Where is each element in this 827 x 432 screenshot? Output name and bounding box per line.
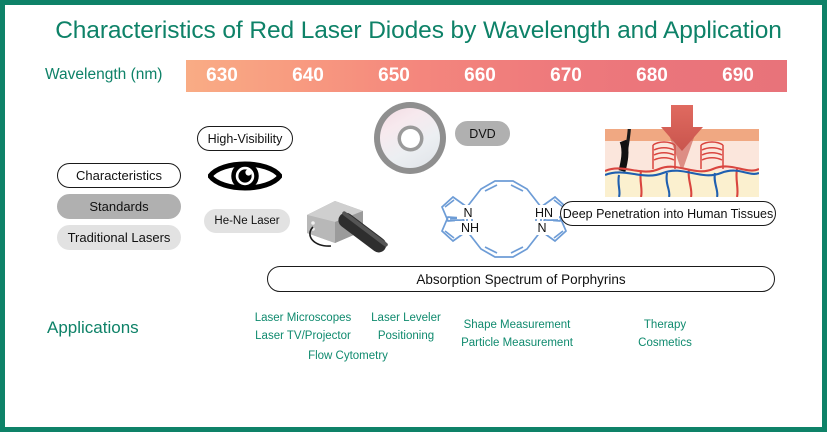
callout-high-visibility: High-Visibility (197, 126, 293, 151)
page-title: Characteristics of Red Laser Diodes by W… (5, 17, 827, 45)
wavelength-tick-670: 670 (536, 60, 596, 92)
wavelength-tick-640: 640 (278, 60, 338, 92)
dvd-disc-hub (401, 129, 420, 148)
application-particle-measurement: Particle Measurement (455, 337, 579, 349)
application-therapy: Therapy (617, 319, 713, 331)
legend-item-traditional-lasers: Traditional Lasers (57, 225, 181, 250)
wavelength-tick-680: 680 (622, 60, 682, 92)
applications-heading: Applications (47, 318, 139, 338)
atom-label-n-bottom-right: N (537, 221, 546, 235)
wavelength-gradient-bar: 630 640 650 660 670 680 690 (186, 60, 787, 92)
application-positioning: Positioning (360, 330, 452, 342)
callout-absorption-spectrum: Absorption Spectrum of Porphyrins (267, 266, 775, 292)
callout-deep-penetration: Deep Penetration into Human Tissues (560, 201, 776, 226)
atom-label-nh: NH (461, 221, 479, 235)
dvd-disc-icon (374, 102, 446, 174)
legend-item-characteristics: Characteristics (57, 163, 181, 188)
application-flow-cytometry: Flow Cytometry (293, 350, 403, 362)
application-cosmetics: Cosmetics (617, 337, 713, 349)
callout-dvd: DVD (455, 121, 510, 146)
atom-label-hn: HN (535, 206, 553, 220)
application-laser-tv-projector: Laser TV/Projector (248, 330, 358, 342)
application-laser-microscopes: Laser Microscopes (248, 312, 358, 324)
atom-label-n-top-left: N (463, 206, 472, 220)
wavelength-axis-label: Wavelength (nm) (45, 66, 162, 84)
eye-icon (208, 157, 282, 195)
wavelength-tick-630: 630 (192, 60, 252, 92)
application-shape-measurement: Shape Measurement (455, 319, 579, 331)
wavelength-tick-650: 650 (364, 60, 424, 92)
wavelength-tick-690: 690 (708, 60, 768, 92)
skin-cross-section-icon (597, 105, 767, 197)
he-ne-laser-device-icon (301, 191, 405, 257)
infographic-frame: Characteristics of Red Laser Diodes by W… (0, 0, 827, 432)
porphyrin-molecule-icon: N HN NH N (429, 167, 579, 271)
legend-item-standards: Standards (57, 194, 181, 219)
dvd-disc-surface (380, 108, 440, 168)
wavelength-tick-660: 660 (450, 60, 510, 92)
callout-he-ne-laser: He-Ne Laser (204, 209, 290, 233)
application-laser-leveler: Laser Leveler (360, 312, 452, 324)
